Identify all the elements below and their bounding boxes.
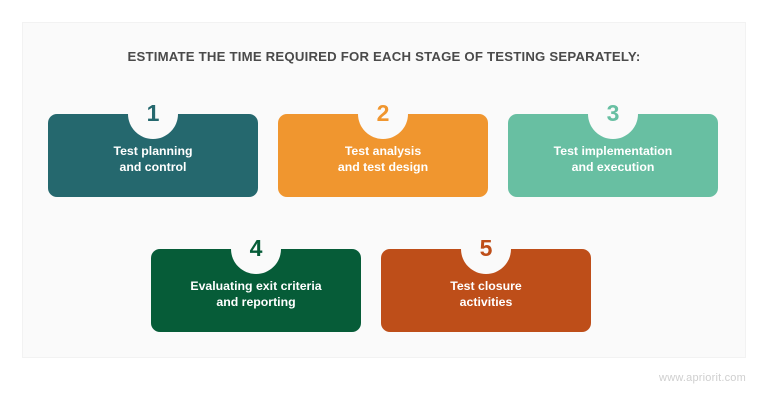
stage-number-badge-1: 1 (128, 89, 178, 139)
infographic-panel: Estimate the time required for each stag… (22, 22, 746, 358)
stage-card-1: 1 Test planning and control (48, 114, 258, 197)
stage-number-badge-2: 2 (358, 89, 408, 139)
stage-card-3: 3 Test implementation and execution (508, 114, 718, 197)
stage-number-badge-3: 3 (588, 89, 638, 139)
stage-label-5: Test closure activities (381, 270, 591, 310)
stage-label-4: Evaluating exit criteria and reporting (151, 270, 361, 310)
stage-number-3: 3 (607, 102, 620, 125)
stage-label-3: Test implementation and execution (508, 135, 718, 175)
stage-card-5: 5 Test closure activities (381, 249, 591, 332)
stage-number-1: 1 (147, 102, 160, 125)
stage-label-2: Test analysis and test design (278, 135, 488, 175)
stage-number-badge-5: 5 (461, 224, 511, 274)
stage-number-4: 4 (250, 237, 263, 260)
stage-label-1: Test planning and control (48, 135, 258, 175)
stage-number-badge-4: 4 (231, 224, 281, 274)
site-watermark: www.apriorit.com (659, 372, 746, 384)
page-title: Estimate the time required for each stag… (23, 49, 745, 64)
stage-card-4: 4 Evaluating exit criteria and reporting (151, 249, 361, 332)
stage-number-2: 2 (377, 102, 390, 125)
stage-card-2: 2 Test analysis and test design (278, 114, 488, 197)
stage-number-5: 5 (480, 237, 493, 260)
